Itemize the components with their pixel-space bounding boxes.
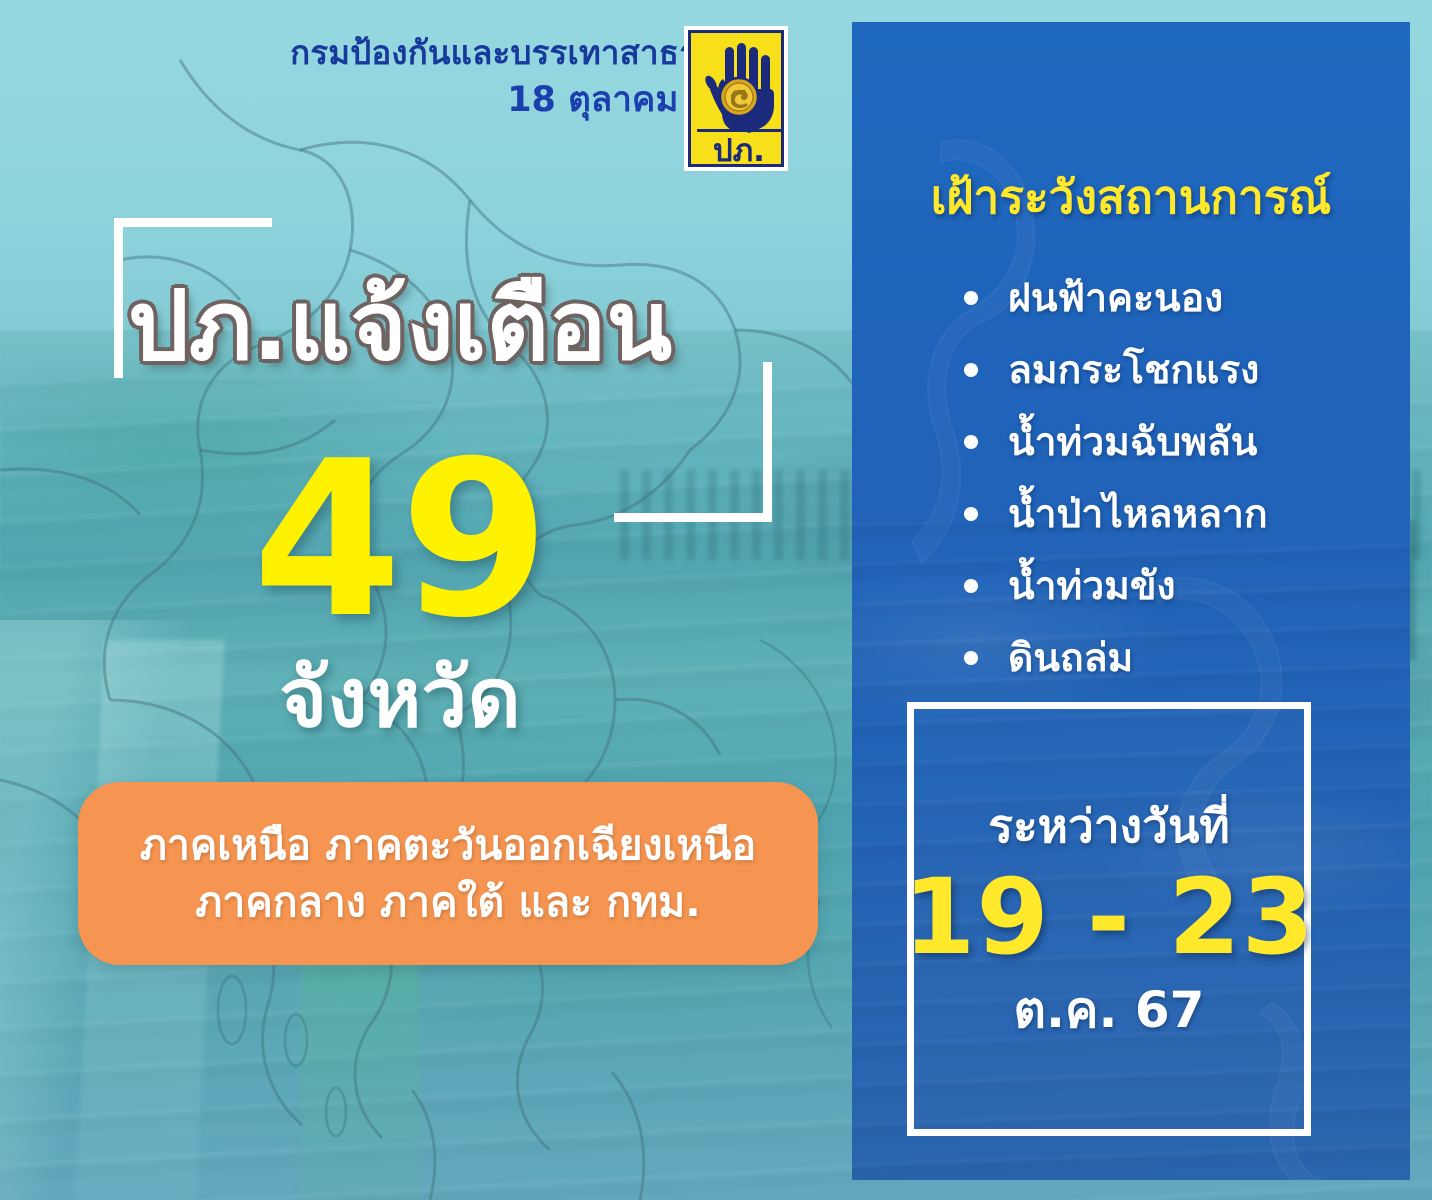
list-item: ฝนฟ้าคะนอง	[964, 262, 1404, 334]
date-range-value: 19 - 23	[903, 863, 1315, 972]
ddpm-logo-plate: ปภ.	[688, 30, 784, 167]
ddpm-hand-emblem-icon: ปภ.	[691, 33, 787, 170]
bullet-dot-icon	[964, 363, 978, 377]
list-item: ลมกระโชกแรง	[964, 334, 1404, 406]
publication-date: 18 ตุลาคม 2567	[0, 79, 788, 121]
region-line-2: ภาคกลาง ภาคใต้ และ กทม.	[195, 874, 700, 931]
watch-item-label: น้ำป่าไหลหลาก	[1008, 483, 1268, 545]
panel-title: เฝ้าระวังสถานการณ์	[852, 174, 1410, 220]
header-block: กรมป้องกันและบรรเทาสาธารณภัย 18 ตุลาคม 2…	[0, 34, 800, 121]
watch-item-label: ดินถล่ม	[1008, 627, 1133, 689]
organization-name: กรมป้องกันและบรรเทาสาธารณภัย	[0, 34, 788, 73]
watch-items-list: ฝนฟ้าคะนอง ลมกระโชกแรง น้ำท่วมฉับพลัน น้…	[964, 262, 1404, 694]
ddpm-logo: ปภ.	[684, 26, 788, 171]
list-item: น้ำท่วมฉับพลัน	[964, 406, 1404, 478]
bullet-dot-icon	[964, 579, 978, 593]
bullet-dot-icon	[964, 651, 978, 665]
watch-item-label: น้ำท่วมขัง	[1008, 555, 1176, 617]
logo-abbreviation-text: ปภ.	[713, 133, 765, 169]
warning-period-box: ระหว่างวันที่ 19 - 23 ต.ค. 67	[907, 702, 1311, 1136]
province-unit-label: จังหวัด	[0, 658, 800, 740]
province-count: 49	[0, 432, 800, 647]
list-item: น้ำป่าไหลหลาก	[964, 478, 1404, 550]
watch-item-label: น้ำท่วมฉับพลัน	[1008, 411, 1257, 473]
region-line-1: ภาคเหนือ ภาคตะวันออกเฉียงเหนือ	[140, 817, 756, 874]
page-title: ปภ.แจ้งเตือน	[0, 278, 800, 374]
list-item: น้ำท่วมขัง	[964, 550, 1404, 622]
poster-root: กรมป้องกันและบรรเทาสาธารณภัย 18 ตุลาคม 2…	[0, 0, 1432, 1200]
bullet-dot-icon	[964, 435, 978, 449]
watch-item-label: ฝนฟ้าคะนอง	[1008, 267, 1223, 329]
bullet-dot-icon	[964, 291, 978, 305]
watch-item-label: ลมกระโชกแรง	[1008, 339, 1259, 401]
date-month-year: ต.ค. 67	[1014, 985, 1205, 1035]
list-item: ดินถล่ม	[964, 622, 1404, 694]
date-range-label: ระหว่างวันที่	[988, 803, 1229, 849]
bullet-dot-icon	[964, 507, 978, 521]
affected-regions-box: ภาคเหนือ ภาคตะวันออกเฉียงเหนือ ภาคกลาง ภ…	[78, 782, 818, 965]
